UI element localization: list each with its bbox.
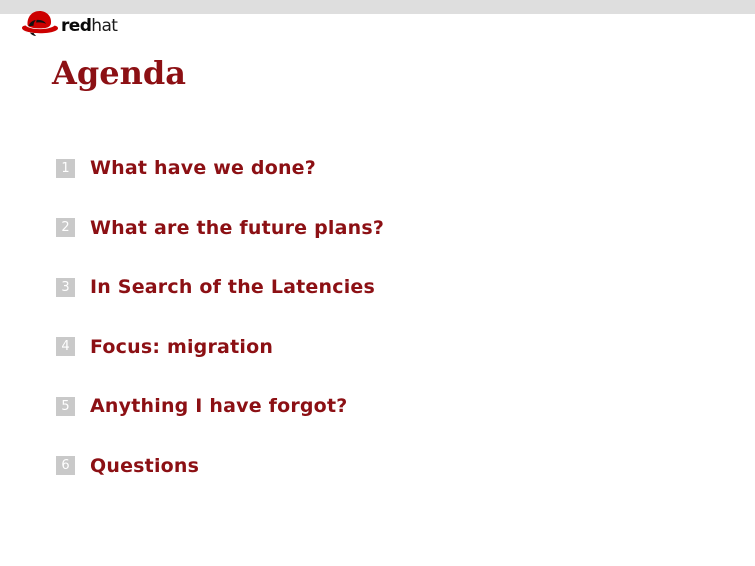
agenda-item-label: What have we done? [90,157,316,179]
list-item[interactable]: 2 What are the future plans? [56,217,696,239]
list-item[interactable]: 3 In Search of the Latencies [56,276,696,298]
agenda-item-number: 5 [56,397,75,416]
agenda-list: 1 What have we done? 2 What are the futu… [56,157,696,477]
redhat-shadowman-logo [20,9,60,38]
redhat-wordmark: redhat [61,18,117,35]
list-item[interactable]: 5 Anything I have forgot? [56,395,696,417]
agenda-item-number: 6 [56,456,75,475]
agenda-item-label: Anything I have forgot? [90,395,347,417]
list-item[interactable]: 4 Focus: migration [56,336,696,358]
wordmark-red: red [61,16,91,36]
agenda-item-number: 2 [56,218,75,237]
agenda-item-number: 4 [56,337,75,356]
page-title: Agenda [52,57,186,89]
agenda-item-number: 1 [56,159,75,178]
agenda-item-label: In Search of the Latencies [90,276,375,298]
agenda-item-label: What are the future plans? [90,217,384,239]
list-item[interactable]: 1 What have we done? [56,157,696,179]
wordmark-hat: hat [91,16,117,36]
agenda-item-number: 3 [56,278,75,297]
redhat-logo: redhat [20,9,117,38]
list-item[interactable]: 6 Questions [56,455,696,477]
agenda-item-label: Questions [90,455,199,477]
agenda-item-label: Focus: migration [90,336,273,358]
